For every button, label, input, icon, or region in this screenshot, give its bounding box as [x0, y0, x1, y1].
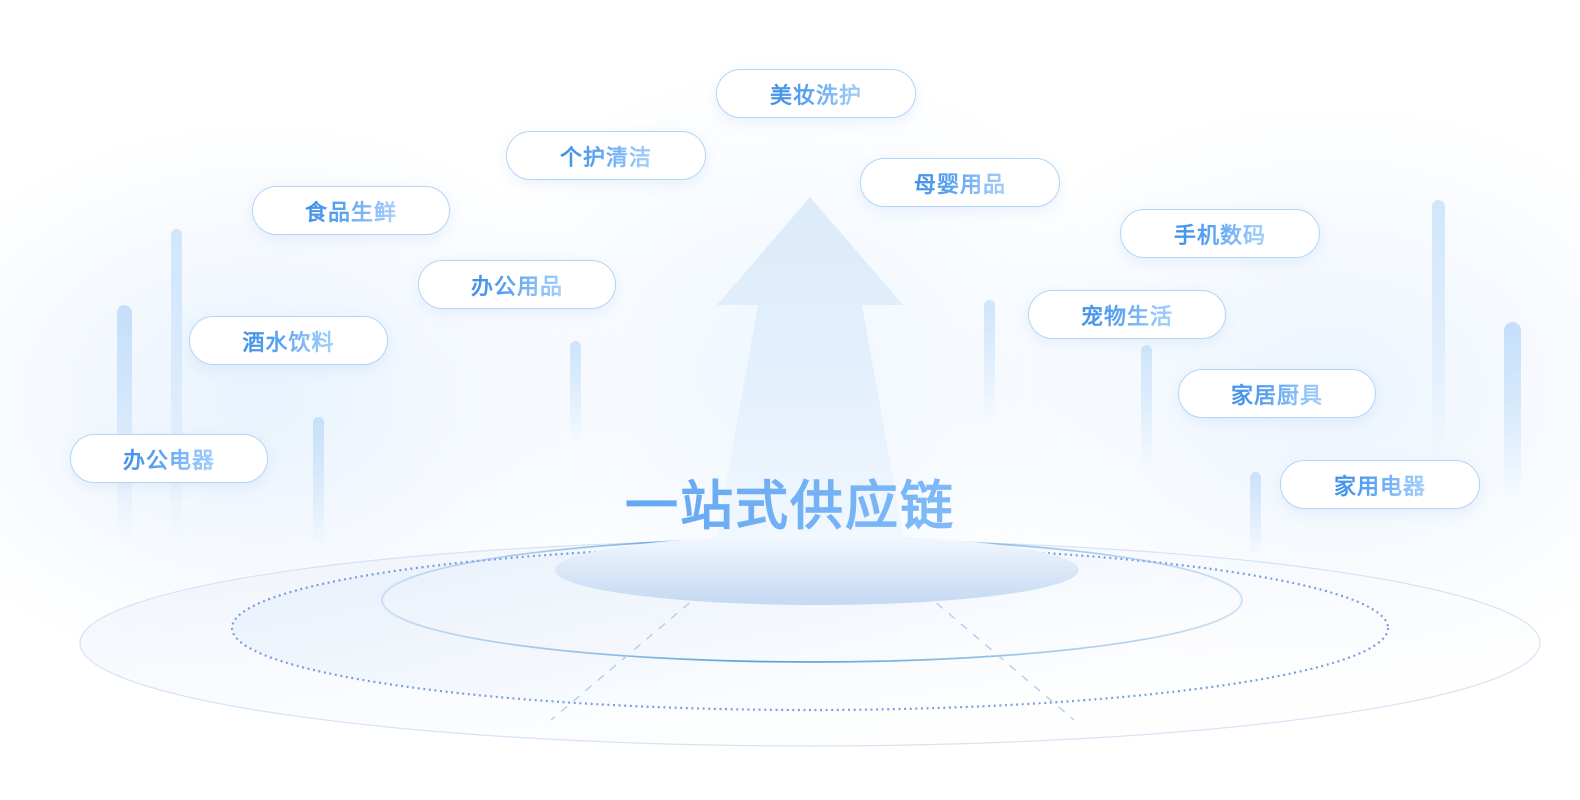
category-pill-label: 母婴用品 [914, 167, 1006, 199]
category-pill-label: 手机数码 [1174, 218, 1266, 250]
category-pill-office-supplies[interactable]: 办公用品 [418, 260, 616, 309]
category-pill-label: 美妆洗护 [770, 78, 862, 110]
platform-mid-ellipse [232, 546, 1388, 710]
decorative-light-bar [984, 300, 995, 422]
category-pill-label: 办公电器 [123, 443, 215, 475]
decorative-light-bar [1504, 322, 1521, 500]
category-pill-personal-clean[interactable]: 个护清洁 [506, 131, 706, 180]
decorative-light-bar [1141, 345, 1152, 470]
platform-inner-ellipse [555, 535, 1079, 605]
decorative-light-bar [1432, 200, 1445, 458]
category-pill-pet-life[interactable]: 宠物生活 [1028, 290, 1226, 339]
category-pill-mother-baby[interactable]: 母婴用品 [860, 158, 1060, 207]
guide-line-right [900, 572, 1074, 720]
category-pill-food-fresh[interactable]: 食品生鲜 [252, 186, 450, 235]
category-pill-label: 家用电器 [1334, 469, 1426, 501]
guide-line-left [551, 572, 726, 720]
platform-dotted-ring [232, 546, 1388, 710]
category-pill-office-appliance[interactable]: 办公电器 [70, 434, 268, 483]
platform-outer-ellipse [80, 540, 1540, 746]
category-pill-wine-drinks[interactable]: 酒水饮料 [189, 316, 388, 365]
platform-solid-ring [382, 538, 1242, 662]
category-pill-beauty-wash[interactable]: 美妆洗护 [716, 69, 916, 118]
category-pill-phone-digital[interactable]: 手机数码 [1120, 209, 1320, 258]
category-pill-label: 办公用品 [471, 269, 563, 301]
category-pill-home-appliance[interactable]: 家用电器 [1280, 460, 1480, 509]
category-pill-label: 酒水饮料 [242, 325, 334, 357]
decorative-light-bar [570, 341, 581, 445]
category-pill-label: 个护清洁 [560, 140, 652, 172]
category-pill-label: 食品生鲜 [305, 195, 397, 227]
category-pill-label: 宠物生活 [1081, 299, 1173, 331]
supply-chain-hero: 一站式供应链 美妆洗护个护清洁母婴用品食品生鲜手机数码办公用品宠物生活酒水饮料家… [0, 0, 1580, 800]
category-pill-home-kitchen[interactable]: 家居厨具 [1178, 369, 1376, 418]
category-pill-label: 家居厨具 [1231, 378, 1323, 410]
